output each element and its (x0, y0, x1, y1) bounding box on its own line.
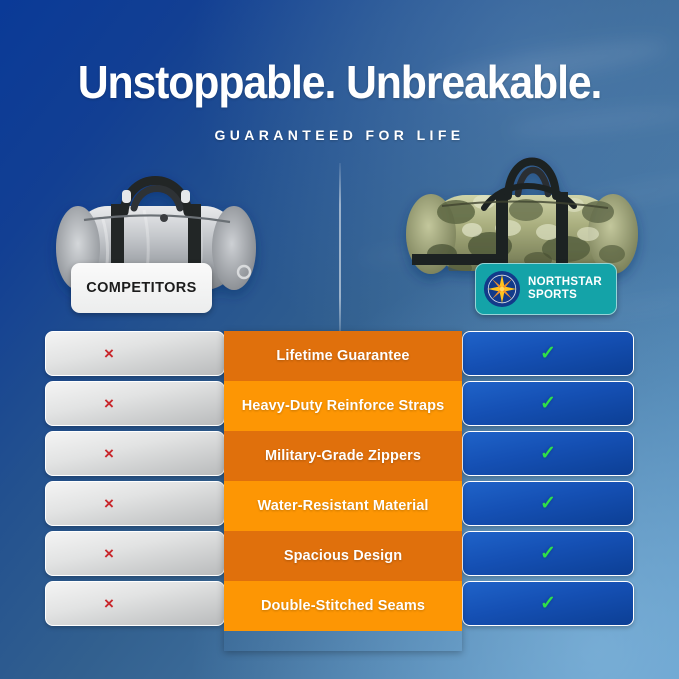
feature-label: Military-Grade Zippers (224, 431, 462, 481)
check-icon: ✓ (540, 442, 556, 465)
feature-label: Heavy-Duty Reinforce Straps (224, 381, 462, 431)
competitor-cell: × (45, 331, 225, 376)
northstar-cell: ✓ (462, 581, 634, 626)
competitor-cell: × (45, 481, 225, 526)
northstar-cell: ✓ (462, 481, 634, 526)
competitor-cell: × (45, 581, 225, 626)
northstar-line2: SPORTS (528, 289, 577, 301)
infographic-canvas: Unstoppable. Unbreakable. GUARANTEED FOR… (0, 0, 679, 679)
northstar-badge: NORTHSTAR SPORTS (475, 263, 617, 315)
check-icon: ✓ (540, 592, 556, 615)
northstar-cell: ✓ (462, 531, 634, 576)
compass-star-icon (483, 270, 521, 308)
northstar-label: NORTHSTAR SPORTS (528, 276, 602, 303)
competitor-cell: × (45, 381, 225, 426)
check-icon: ✓ (540, 342, 556, 365)
feature-column: Lifetime Guarantee Heavy-Duty Reinforce … (224, 331, 462, 651)
cross-icon: × (104, 394, 114, 414)
northstar-cell: ✓ (462, 431, 634, 476)
feature-label: Double-Stitched Seams (224, 581, 462, 631)
cross-icon: × (104, 494, 114, 514)
subheadline: GUARANTEED FOR LIFE (0, 127, 679, 143)
cross-icon: × (104, 544, 114, 564)
check-icon: ✓ (540, 542, 556, 565)
comparison-table: × ✓ × ✓ × ✓ × (0, 331, 679, 651)
vertical-divider (339, 163, 341, 331)
northstar-line1: NORTHSTAR (528, 276, 602, 288)
competitor-cell: × (45, 431, 225, 476)
cross-icon: × (104, 444, 114, 464)
headline: Unstoppable. Unbreakable. (24, 55, 655, 109)
northstar-cell: ✓ (462, 331, 634, 376)
check-icon: ✓ (540, 392, 556, 415)
feature-label: Spacious Design (224, 531, 462, 581)
cross-icon: × (104, 594, 114, 614)
competitors-label: COMPETITORS (86, 280, 196, 296)
competitor-cell: × (45, 531, 225, 576)
cross-icon: × (104, 344, 114, 364)
feature-label: Lifetime Guarantee (224, 331, 462, 381)
feature-label: Water-Resistant Material (224, 481, 462, 531)
northstar-cell: ✓ (462, 381, 634, 426)
check-icon: ✓ (540, 492, 556, 515)
competitors-badge: COMPETITORS (71, 263, 212, 313)
